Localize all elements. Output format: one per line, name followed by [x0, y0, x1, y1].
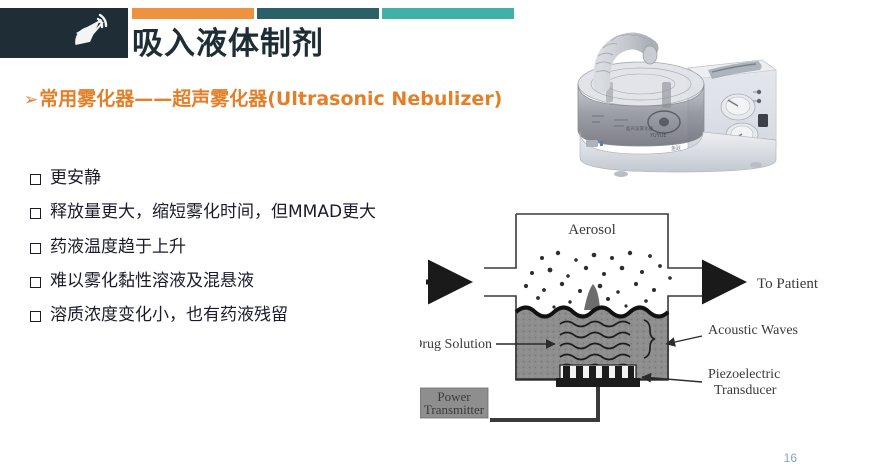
list-item: 溶质浓度变化小，也有药液残留 [30, 305, 430, 326]
square-bullet-icon [30, 208, 41, 219]
square-bullet-icon [30, 174, 41, 185]
section-subtitle: ➢常用雾化器——超声雾化器(Ultrasonic Nebulizer) [24, 84, 502, 111]
svg-text:超声波雾化器: 超声波雾化器 [626, 125, 653, 132]
diagram-label-acoustic-waves: Acoustic Waves [708, 323, 798, 338]
header-bar-light-teal [382, 8, 514, 19]
list-item: 难以雾化黏性溶液及混悬液 [30, 271, 430, 292]
satellite-dish-icon [70, 13, 114, 53]
diagram-label-drug-solution: Drug Solution [420, 337, 492, 352]
list-item-label: 难以雾化黏性溶液及混悬液 [50, 271, 254, 292]
ultrasonic-nebulizer-photo: YUYUE 超声波雾化器 鱼跃 [566, 22, 792, 187]
diagram-label-transmitter: Transmitter [424, 402, 485, 417]
diagram-label-transducer: Transducer [714, 383, 777, 398]
list-item: 药液温度趋于上升 [30, 237, 430, 258]
list-item-label: 释放量更大，缩短雾化时间，但MMAD更大 [50, 202, 376, 223]
list-item: 更安静 [30, 168, 430, 189]
ultrasonic-nebulizer-schematic: Aerosol [420, 198, 869, 443]
square-bullet-icon [30, 243, 41, 254]
arrow-marker-icon: ➢ [24, 90, 38, 110]
list-item-label: 更安静 [50, 168, 101, 189]
slide-canvas: 吸入液体制剂 ➢常用雾化器——超声雾化器(Ultrasonic Nebulize… [0, 0, 869, 474]
svg-text:YUYUE: YUYUE [649, 133, 667, 139]
diagram-label-piezoelectric: Piezoelectric [708, 367, 780, 382]
square-bullet-icon [30, 311, 41, 322]
page-number: 16 [784, 451, 797, 465]
page-title: 吸入液体制剂 [132, 18, 324, 63]
list-item-label: 溶质浓度变化小，也有药液残留 [50, 305, 288, 326]
section-subtitle-text: 常用雾化器——超声雾化器(Ultrasonic Nebulizer) [39, 88, 502, 110]
square-bullet-icon [30, 277, 41, 288]
list-item: 释放量更大，缩短雾化时间，但MMAD更大 [30, 202, 430, 223]
diagram-label-to-patient: To Patient [757, 276, 819, 292]
diagram-label-aerosol: Aerosol [568, 222, 616, 238]
svg-text:鱼跃: 鱼跃 [671, 145, 681, 152]
bullet-list: 更安静 释放量更大，缩短雾化时间，但MMAD更大 药液温度趋于上升 难以雾化黏性… [30, 168, 430, 339]
list-item-label: 药液温度趋于上升 [50, 237, 186, 258]
